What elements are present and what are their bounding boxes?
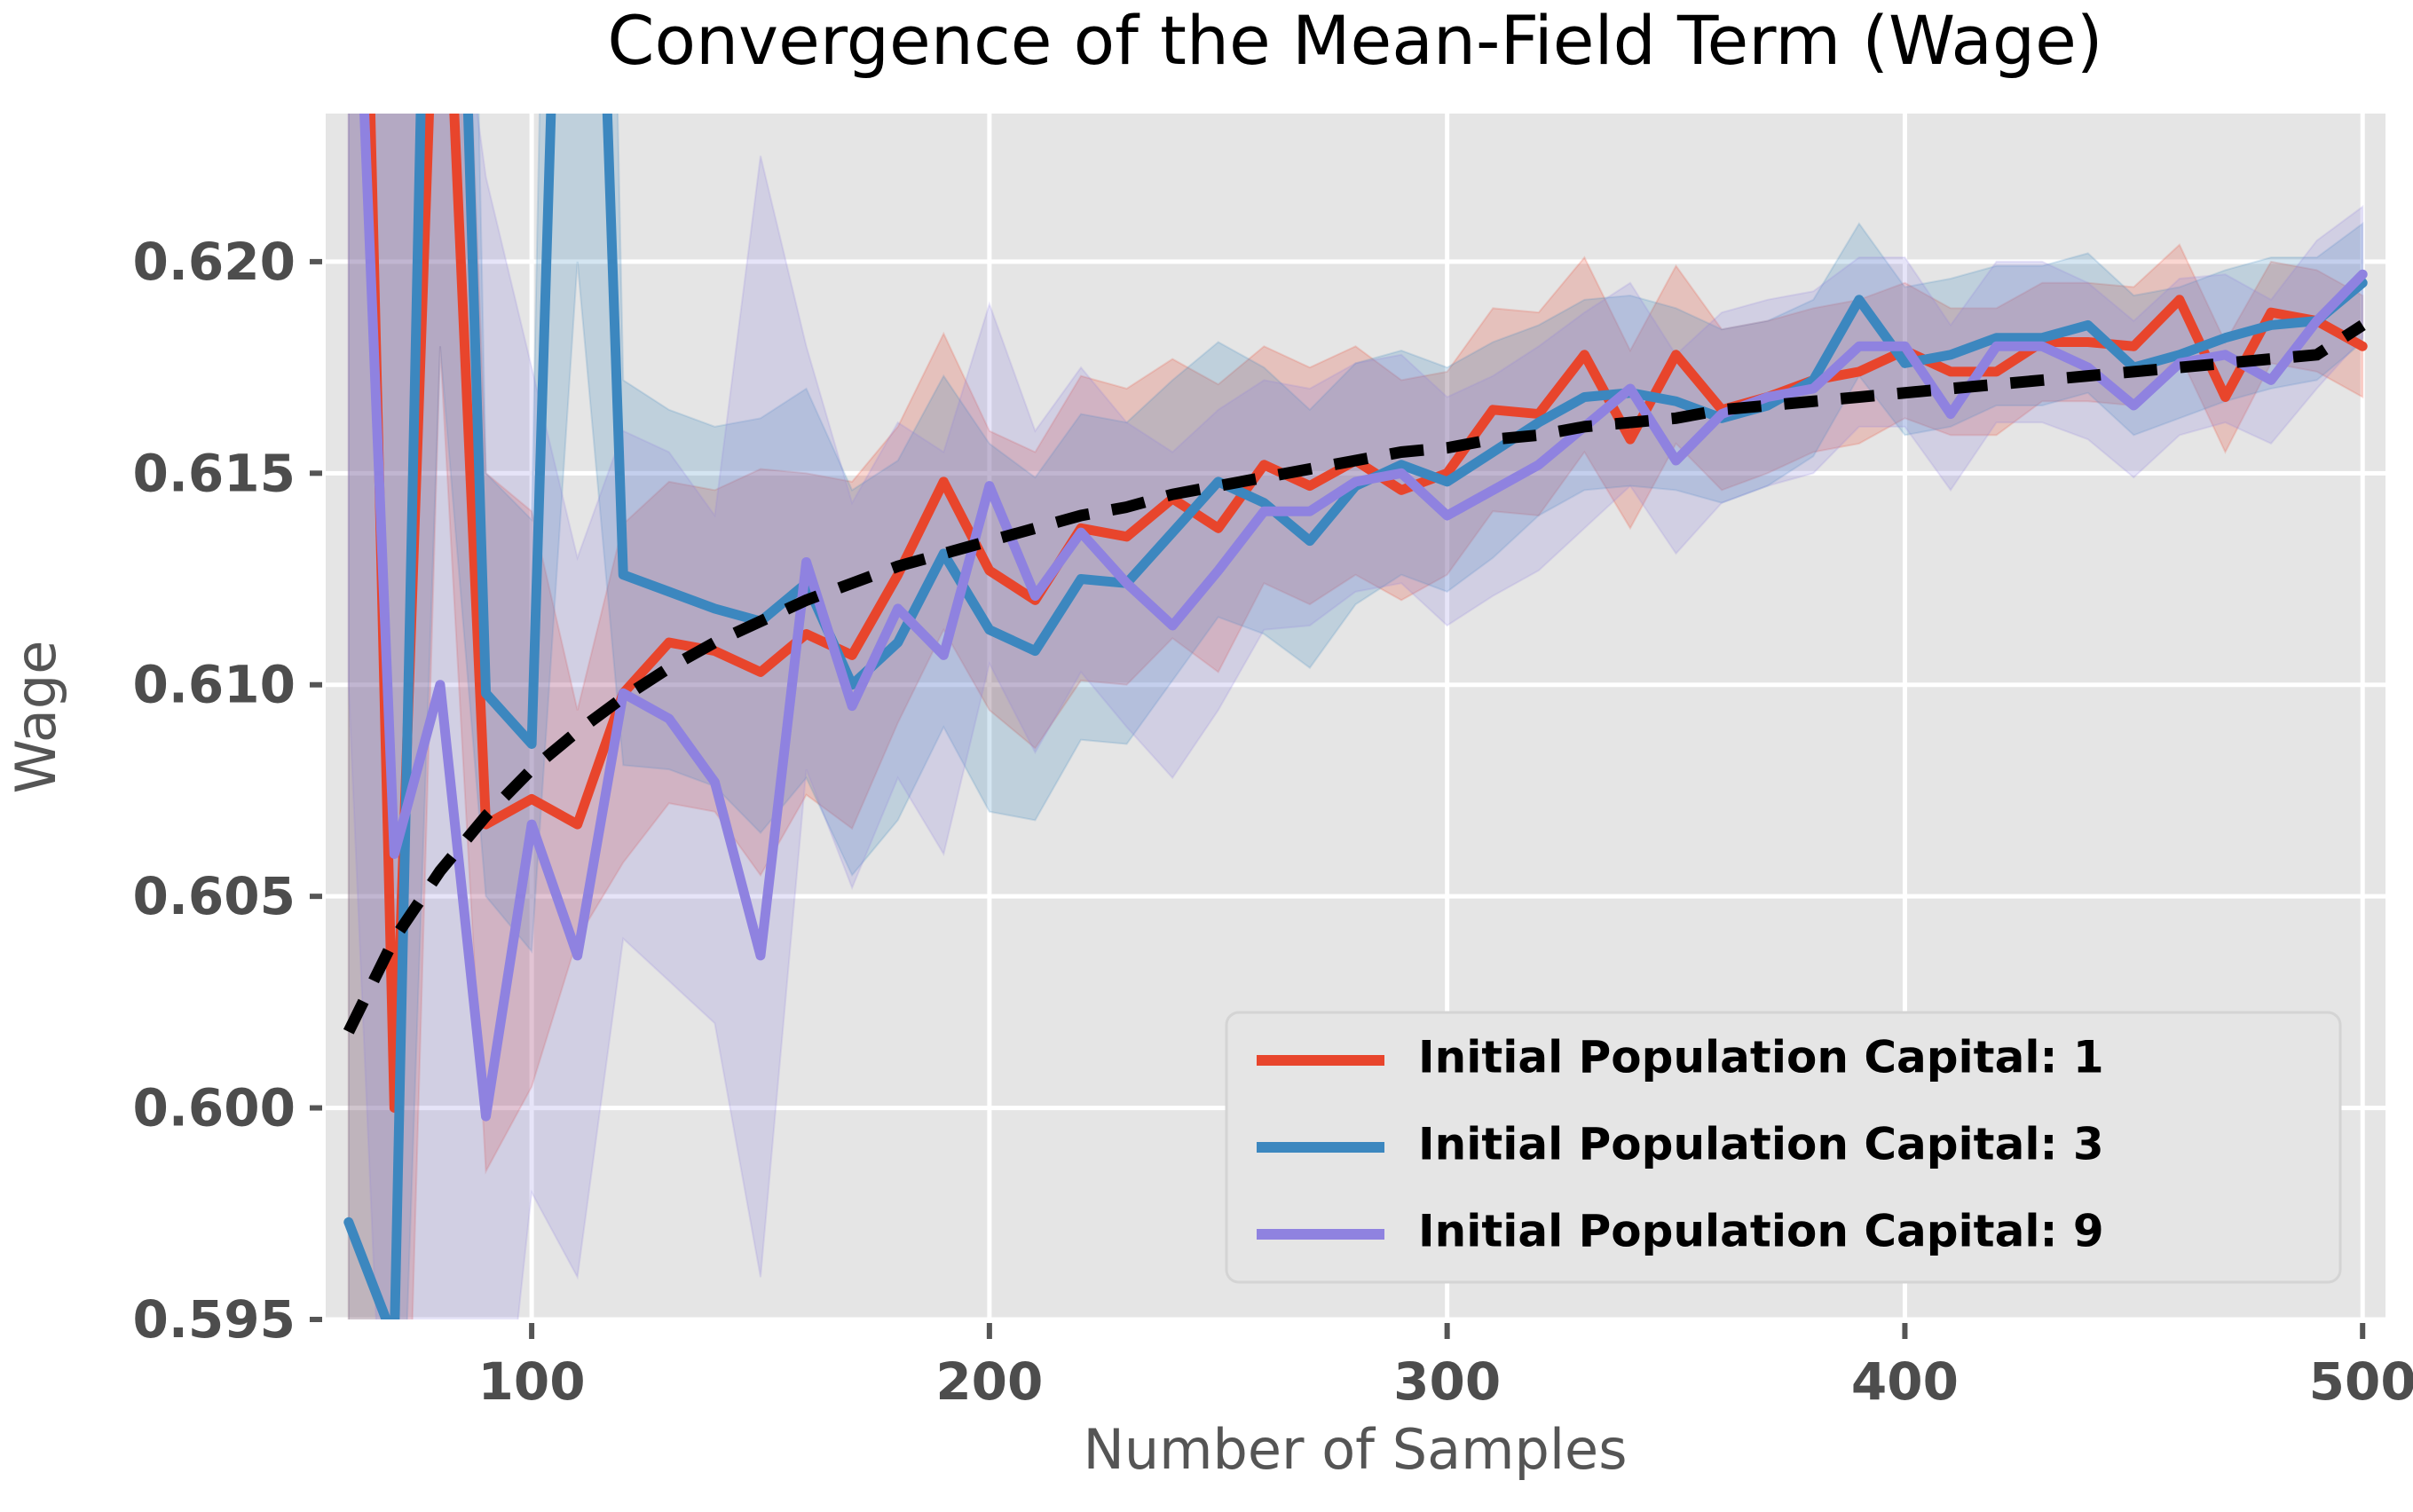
x-axis-label: Number of Samples [1083, 1417, 1627, 1482]
chart-legend[interactable]: Initial Population Capital: 1Initial Pop… [1226, 1012, 2340, 1282]
y-tick-label-5: 0.620 [133, 232, 296, 292]
figure-container: 0.5950.6000.6050.6100.6150.6201002003004… [0, 0, 2413, 1512]
legend-label-2: Initial Population Capital: 3 [1418, 1119, 2104, 1170]
x-tick-label-4: 500 [2309, 1351, 2413, 1412]
y-axis-label: Wage [4, 641, 68, 794]
legend-label-1: Initial Population Capital: 1 [1418, 1032, 2104, 1083]
y-tick-label-1: 0.600 [133, 1078, 296, 1138]
x-tick-label-2: 300 [1393, 1351, 1501, 1412]
chart-title: Convergence of the Mean-Field Term (Wage… [607, 1, 2102, 80]
convergence-line-chart: 0.5950.6000.6050.6100.6150.6201002003004… [0, 0, 2413, 1512]
y-tick-label-4: 0.615 [133, 443, 296, 503]
y-tick-label-3: 0.610 [133, 655, 296, 715]
x-tick-label-1: 200 [935, 1351, 1043, 1412]
legend-label-3: Initial Population Capital: 9 [1418, 1206, 2104, 1257]
y-tick-label-2: 0.605 [133, 866, 296, 926]
x-tick-label-3: 400 [1851, 1351, 1959, 1412]
y-tick-label-0: 0.595 [133, 1289, 296, 1350]
x-tick-label-0: 100 [478, 1351, 586, 1412]
